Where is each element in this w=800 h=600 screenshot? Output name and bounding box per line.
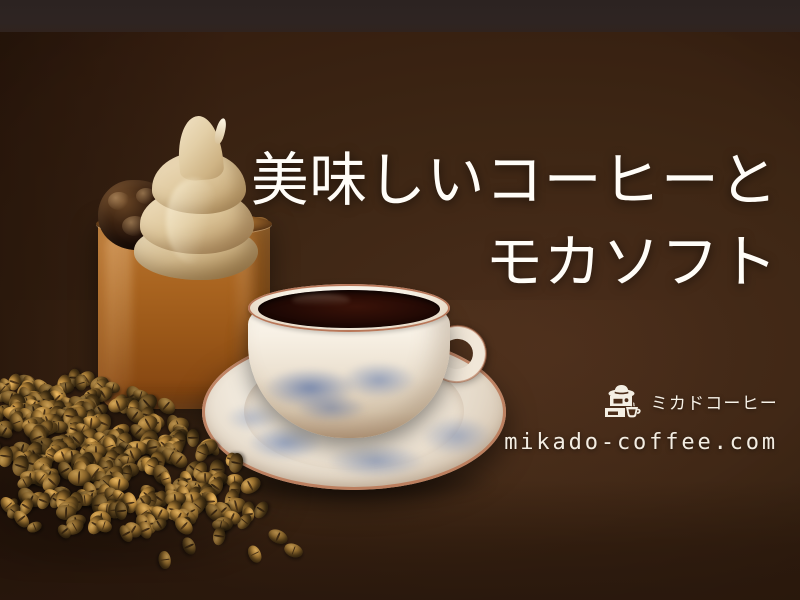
brand-logo-kana: ミカドコーヒー <box>651 389 778 414</box>
coffee-bean <box>158 550 172 569</box>
cup-blue-pattern <box>296 394 366 422</box>
promo-banner: 美味しいコーヒーと モカソフト ミカドコーヒー mikado <box>0 0 800 600</box>
coffee-cup-image <box>196 276 516 512</box>
coffee-bean <box>282 541 305 560</box>
coffee-bean <box>246 543 264 564</box>
website-url[interactable]: mikado-coffee.com <box>504 430 778 455</box>
headline: 美味しいコーヒーと モカソフト <box>18 152 778 292</box>
cup-blue-pattern <box>342 362 416 398</box>
brand-logo[interactable]: ミカドコーヒー <box>602 382 778 420</box>
background-top-band <box>0 0 800 32</box>
headline-line-2: モカソフト <box>18 234 778 292</box>
coffee-bean <box>180 535 198 556</box>
mikado-figure-with-hat-and-cup-icon <box>602 382 642 420</box>
headline-line-1: 美味しいコーヒーと <box>18 152 778 210</box>
